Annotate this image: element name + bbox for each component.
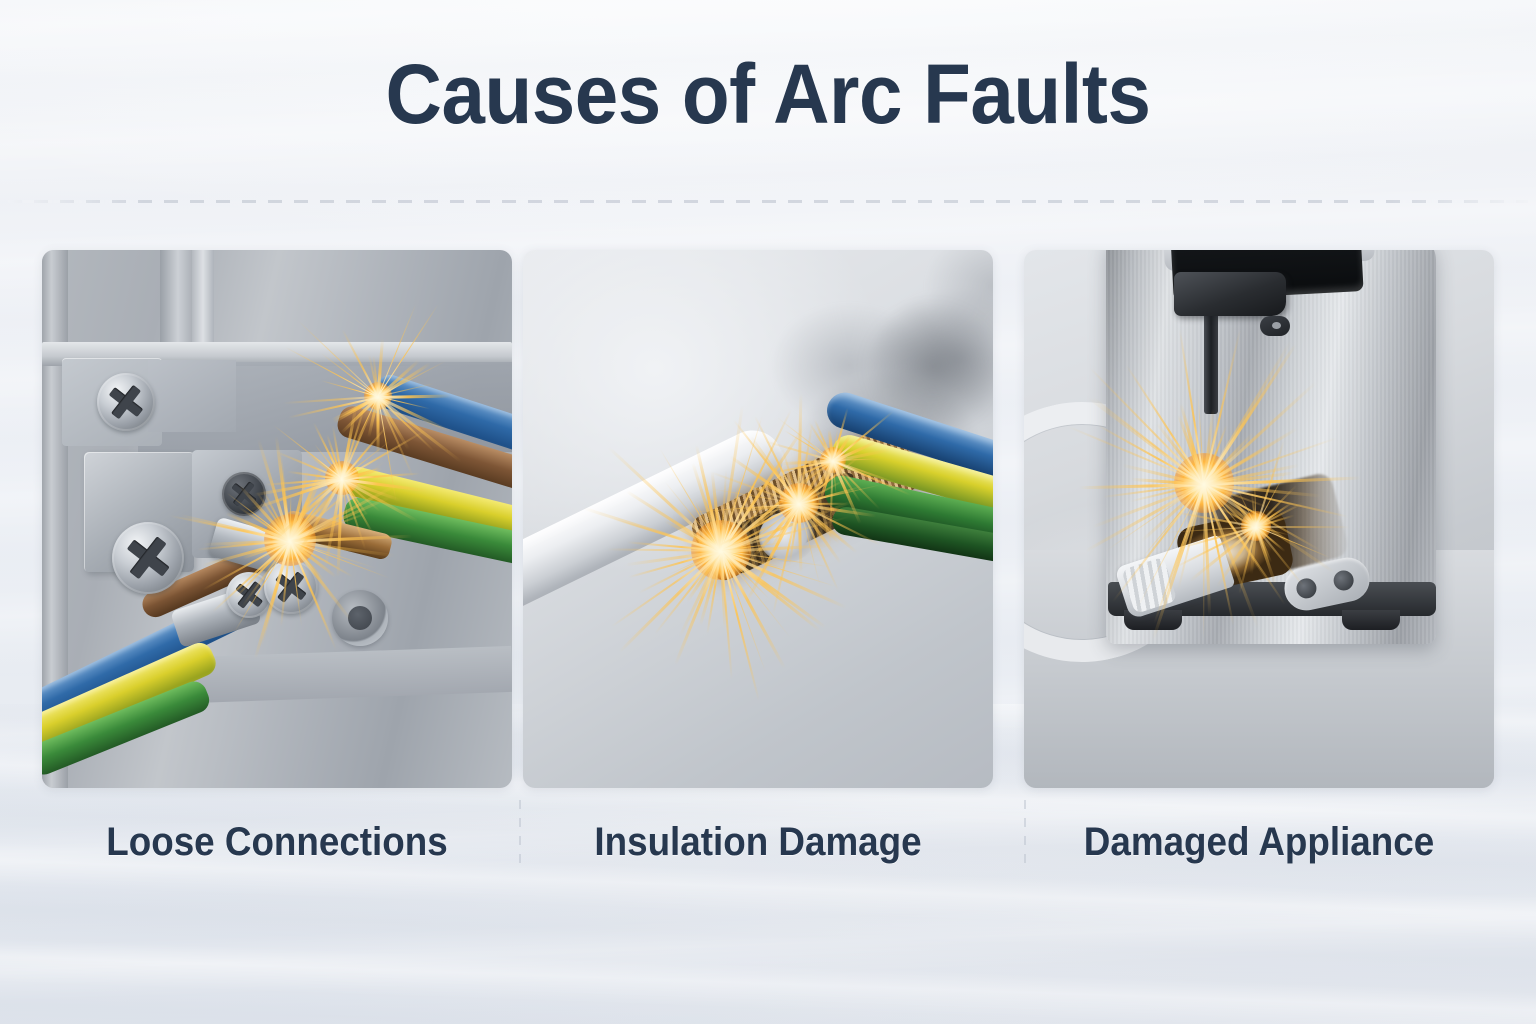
toaster-lever-knob[interactable] — [1260, 316, 1290, 336]
caption-loose-connections: Loose Connections — [61, 812, 493, 872]
caption-divider-left — [519, 800, 521, 872]
box-tab-right — [148, 360, 236, 432]
ash-residue — [759, 512, 815, 562]
screw-icon-dark — [222, 472, 266, 516]
slide-root: Causes of Arc Faults — [0, 0, 1536, 1024]
illustration-insulation-damage — [523, 250, 993, 788]
illustration-loose-connections — [42, 250, 512, 788]
screw-icon-top-left — [97, 373, 155, 431]
caption-insulation-damage: Insulation Damage — [542, 812, 974, 872]
toaster-lever[interactable] — [1174, 272, 1286, 316]
screw-icon-terminal-left — [112, 522, 184, 594]
toaster-lever-arm — [1204, 302, 1218, 414]
caption-damaged-appliance: Damaged Appliance — [1043, 812, 1475, 872]
card-image-insulation-damage[interactable] — [523, 250, 993, 788]
card-image-loose-connections[interactable] — [42, 250, 512, 788]
knockout-hole — [332, 590, 388, 646]
page-title: Causes of Arc Faults — [54, 52, 1482, 136]
illustration-damaged-appliance — [1024, 250, 1494, 788]
title-divider-dashed — [8, 200, 1528, 203]
caption-divider-right — [1024, 800, 1026, 872]
card-image-damaged-appliance[interactable] — [1024, 250, 1494, 788]
screw-icon-clamp-large — [264, 560, 318, 614]
toaster-foot-right — [1342, 610, 1400, 630]
